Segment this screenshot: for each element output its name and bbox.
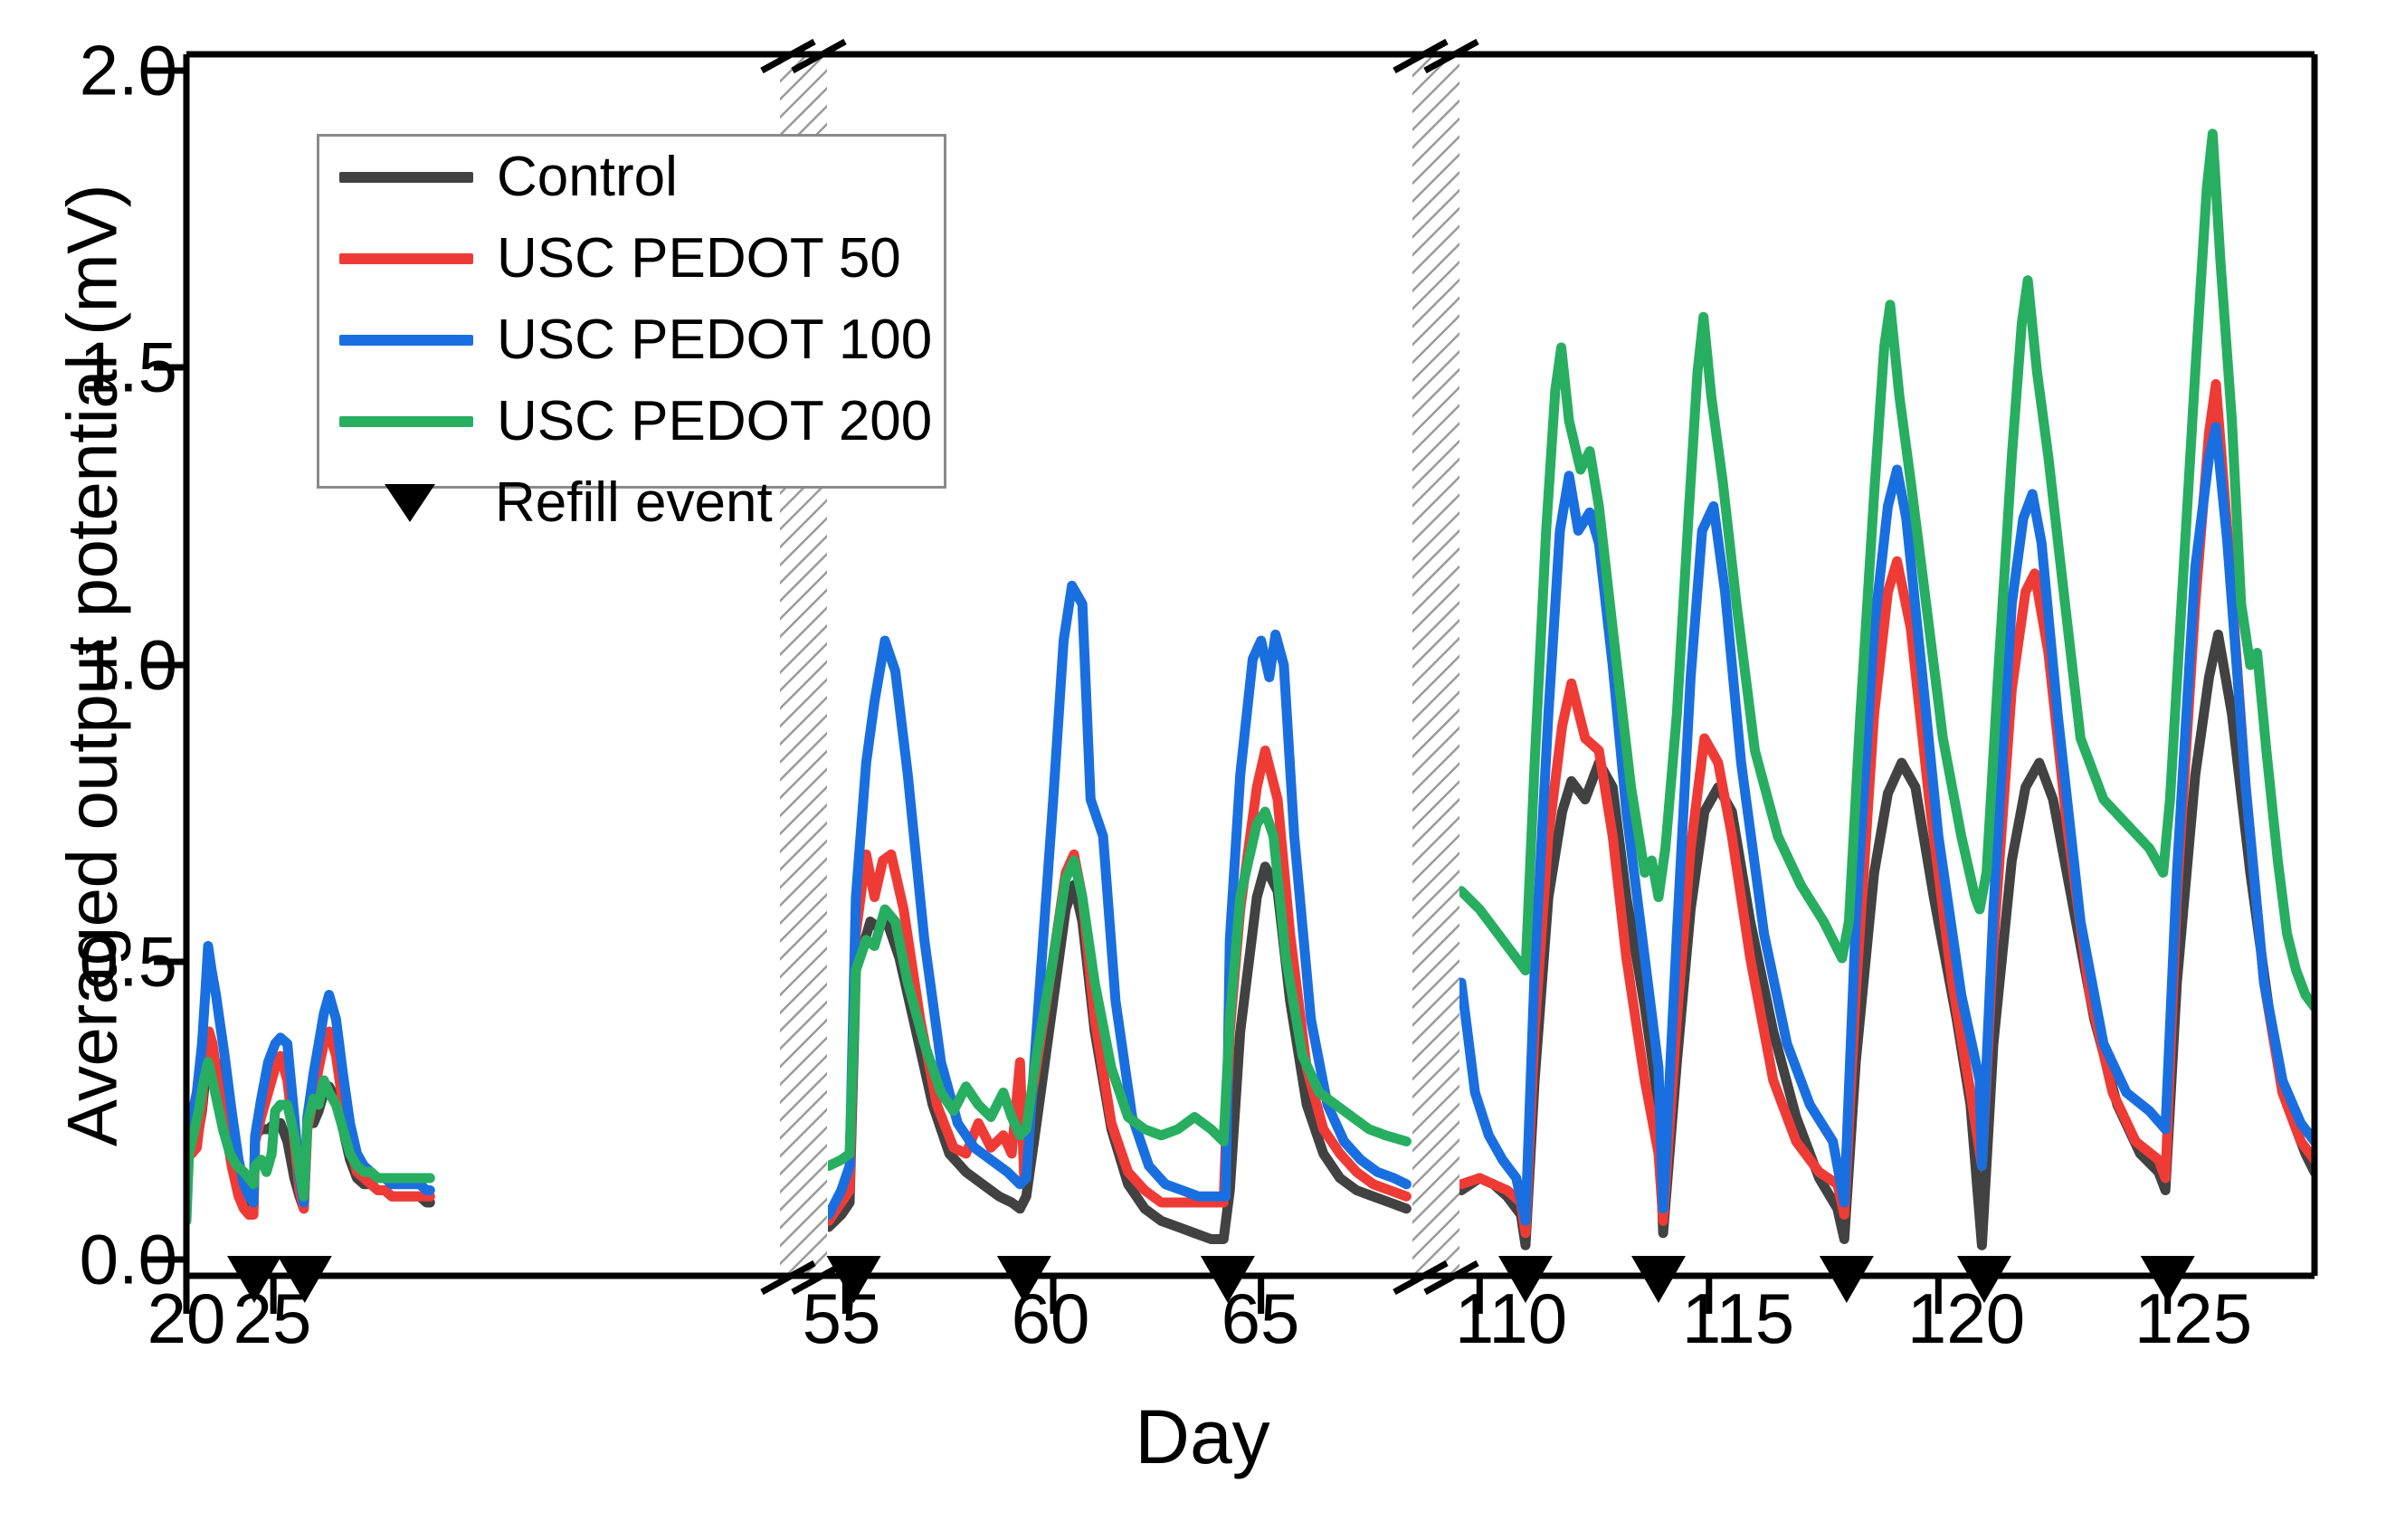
- legend-item-usc-pedot-100: USC PEDOT 100: [319, 299, 944, 381]
- refill-event-marker: [2141, 1256, 2195, 1303]
- refill-event-marker: [997, 1256, 1051, 1303]
- legend-label-control: Control: [497, 149, 678, 205]
- x-tick-marks: [186, 1276, 2168, 1314]
- legend-item-refill-event: Refill event: [319, 462, 944, 544]
- y-tick-marks: [147, 71, 186, 1260]
- refill-event-marker: [1498, 1256, 1553, 1303]
- legend-label-usc-pedot-100: USC PEDOT 100: [497, 312, 932, 368]
- refill-event-markers: [227, 1256, 2195, 1303]
- legend-label-refill-event: Refill event: [495, 475, 773, 531]
- legend-swatch-control: [339, 172, 473, 183]
- refill-event-marker: [1820, 1256, 1874, 1303]
- legend-box: Control USC PEDOT 50 USC PEDOT 100 USC P…: [317, 134, 946, 489]
- legend-label-usc-pedot-50: USC PEDOT 50: [497, 231, 901, 287]
- refill-event-marker: [1957, 1256, 2011, 1303]
- legend-item-control: Control: [319, 137, 944, 218]
- refill-event-marker: [1201, 1256, 1255, 1303]
- legend-item-usc-pedot-50: USC PEDOT 50: [319, 218, 944, 299]
- refill-event-marker: [278, 1256, 332, 1303]
- legend-label-usc-pedot-200: USC PEDOT 200: [497, 394, 932, 450]
- legend-swatch-usc-pedot-50: [339, 253, 473, 264]
- down-triangle-icon: [385, 484, 435, 522]
- legend-item-usc-pedot-200: USC PEDOT 200: [319, 381, 944, 462]
- refill-event-marker: [827, 1256, 881, 1303]
- legend-swatch-usc-pedot-100: [339, 335, 473, 346]
- refill-event-marker: [1631, 1256, 1686, 1303]
- legend-swatch-usc-pedot-200: [339, 416, 473, 427]
- chart-figure: Averaged output potential (mV) 0.0 0.5 1…: [0, 0, 2405, 1540]
